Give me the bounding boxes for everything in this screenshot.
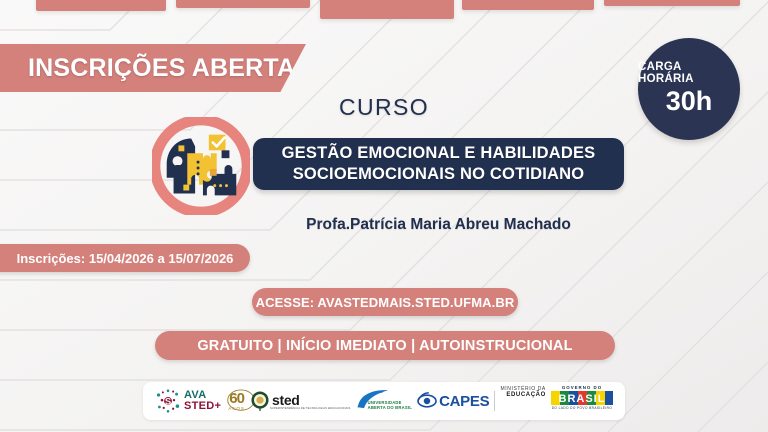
sted-subtitle: SUPERINTENDÊNCIA DE TECNOLOGIAS EDUCACIO…: [270, 407, 351, 410]
top-bar-group: [0, 0, 768, 40]
logo-ministerio-da-educacao: MINISTÉRIO DA EDUCAÇÃO: [501, 386, 546, 416]
logo-capes: CAPES: [417, 386, 489, 416]
top-bar-1: [36, 0, 166, 11]
top-bar-3: [320, 0, 454, 19]
enrollment-dates-pill: Inscrições: 15/04/2026 a 15/07/2026: [0, 244, 250, 272]
capes-eye-icon: [417, 392, 437, 410]
logo-divider: [494, 391, 495, 411]
course-hours-badge: CARGA HORÁRIA 30h: [638, 38, 740, 140]
top-bar-4: [462, 0, 594, 10]
course-hours-label: CARGA HORÁRIA: [638, 61, 740, 85]
svg-text:BRASIL: BRASIL: [559, 393, 606, 405]
sixty-years-sub: ANOS: [228, 407, 244, 411]
head-puzzle-icon: [152, 117, 250, 215]
gov-br-bottom-line: DO LADO DO POVO BRASILEIRO: [552, 407, 613, 410]
course-title-line-2: SOCIOEMOCIONAIS NO COTIDIANO: [293, 164, 585, 185]
sixty-years-wordmark: 60 ANOS: [228, 391, 244, 411]
top-bar-5: [604, 0, 740, 6]
sponsor-logo-bar: S AVA STED+ 60 ANOS ste: [143, 382, 625, 420]
logo-sted: sted SUPERINTENDÊNCIA DE TECNOLOGIAS EDU…: [250, 386, 351, 416]
ava-sted-line-2: STED+: [184, 401, 221, 412]
sixty-years-number: 60: [229, 391, 244, 406]
uab-line-2: ABERTA DO BRASIL: [368, 406, 412, 411]
mec-line-2: EDUCAÇÃO: [506, 392, 545, 400]
sted-wordmark: sted: [272, 393, 351, 407]
course-features-pill: GRATUITO | INÍCIO IMEDIATO | AUTOINSTRUC…: [155, 331, 615, 360]
top-bar-2: [176, 0, 310, 8]
capes-wordmark: CAPES: [439, 393, 489, 410]
logo-universidade-aberta-do-brasil: UNIVERSIDADE ABERTA DO BRASIL: [356, 386, 412, 416]
course-title-line-1: GESTÃO EMOCIONAL E HABILIDADES: [282, 143, 596, 164]
enrollment-open-ribbon: INSCRIÇÕES ABERTAS: [0, 44, 306, 92]
course-title-plaque: GESTÃO EMOCIONAL E HABILIDADES SOCIOEMOC…: [253, 138, 624, 190]
course-kicker: CURSO: [0, 94, 768, 121]
ava-sted-network-icon: S: [155, 389, 181, 413]
access-url-pill[interactable]: ACESSE: AVASTEDMAIS.STED.UFMA.BR: [252, 288, 518, 316]
uab-wordmark: UNIVERSIDADE ABERTA DO BRASIL: [368, 401, 412, 410]
logo-sixty-years: 60 ANOS: [226, 386, 244, 416]
ava-sted-plus-wordmark: AVA STED+: [184, 390, 221, 412]
gov-br-brasil-blocks-icon: BRASIL: [551, 390, 613, 406]
ufma-seal-icon: [250, 390, 270, 412]
enrollment-open-label: INSCRIÇÕES ABERTAS: [0, 54, 312, 83]
professor-name: Profa.Patrícia Maria Abreu Machado: [253, 216, 624, 234]
svg-text:S: S: [165, 395, 171, 406]
poster-canvas: INSCRIÇÕES ABERTAS CARGA HORÁRIA 30h CUR…: [0, 0, 768, 432]
logo-governo-do-brasil: GOVERNO DO BRASIL DO LADO DO POVO BRASIL…: [551, 386, 613, 416]
logo-ava-sted-plus: S AVA STED+: [155, 386, 221, 416]
